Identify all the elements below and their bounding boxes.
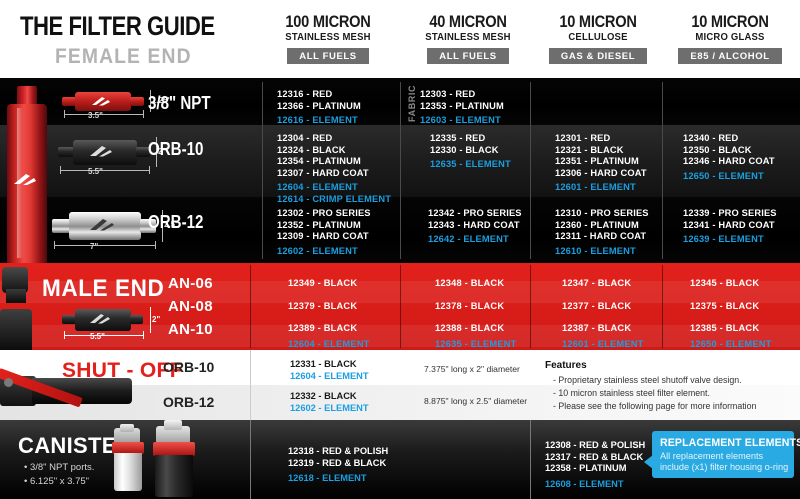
feature-item: - 10 micron stainless steel filter eleme… xyxy=(553,388,710,398)
cell-parts: 12342 - PRO SERIES 12343 - HARD COAT xyxy=(428,208,522,230)
cell-an06-10micron-cellulose: 12347 - BLACK xyxy=(562,278,631,288)
column-header-10-micron-cellulose: 10 MICRON CELLULOSE GAS & DIESEL xyxy=(528,12,668,74)
canister-product-image xyxy=(110,424,215,498)
row-label-shutoff-orb12: ORB-12 xyxy=(163,394,214,410)
feature-item: - Please see the following page for more… xyxy=(553,401,756,411)
row-label-orb10: ORB-10 xyxy=(148,139,203,160)
page-title: THE FILTER GUIDE xyxy=(20,11,215,42)
shutoff-dims-orb10: 7.375" long x 2" diameter xyxy=(424,364,520,374)
male-end-section: MALE END 5.5" 2" AN-06 AN-08 AN-10 12349… xyxy=(0,263,800,350)
replacement-elements-callout: REPLACEMENT ELEMENTS All replacement ele… xyxy=(652,431,794,478)
column-subtitle: MICRO GLASS xyxy=(664,31,797,45)
cell-orb10-100micron: 12304 - RED 12324 - BLACK 12354 - PLATIN… xyxy=(277,133,391,206)
shutoff-dims-orb12: 8.875" long x 2.5" diameter xyxy=(424,396,527,406)
page-header: THE FILTER GUIDE FEMALE END 100 MICRON S… xyxy=(0,0,800,78)
cell-canister-100micron: 12318 - RED & POLISH 12319 - RED & BLACK… xyxy=(288,446,388,485)
cell-orb10-40micron: 12335 - RED 12330 - BLACK 12635 - ELEMEN… xyxy=(430,133,511,171)
column-subtitle: STAINLESS MESH xyxy=(402,31,535,45)
cell-part: 12331 - BLACK xyxy=(290,359,369,371)
cell-element: 12635 - ELEMENT xyxy=(430,159,511,169)
cell-orb10-10micron-cellulose: 12301 - RED 12321 - BLACK 12351 - PLATIN… xyxy=(555,133,647,194)
column-header-10-micron-micro-glass: 10 MICRON MICRO GLASS E85 / ALCOHOL xyxy=(660,12,800,74)
filter-guide-sheet: THE FILTER GUIDE FEMALE END 100 MICRON S… xyxy=(0,0,800,499)
column-divider xyxy=(250,420,251,499)
shut-off-section: SHUT - OFF ORB-10 ORB-12 12331 - BLACK 1… xyxy=(0,350,800,420)
canister-bullet: • 3/8" NPT ports. xyxy=(24,462,94,473)
column-badge: GAS & DIESEL xyxy=(549,48,647,64)
cell-an10-100micron: 12389 - BLACK xyxy=(288,323,357,333)
column-header-100-micron: 100 MICRON STAINLESS MESH ALL FUELS xyxy=(258,12,398,74)
cell-parts: 12301 - RED 12321 - BLACK 12351 - PLATIN… xyxy=(555,133,647,178)
cell-element-100micron: 12604 - ELEMENT xyxy=(288,339,370,349)
dim-diameter: 2" xyxy=(152,315,160,324)
product-bottle-image xyxy=(5,86,47,263)
brand-logo-icon xyxy=(90,314,110,324)
cell-an10-40micron: 12388 - BLACK xyxy=(435,323,504,333)
cell-an08-40micron: 12378 - BLACK xyxy=(435,301,504,311)
page-subtitle: FEMALE END xyxy=(55,45,192,69)
dim-length: 5.5" xyxy=(90,332,105,341)
cell-element: 12603 - ELEMENT xyxy=(420,115,501,125)
column-title: 100 MICRON xyxy=(268,12,388,31)
cell-an06-10micron-microglass: 12345 - BLACK xyxy=(690,278,759,288)
cell-an08-10micron-microglass: 12375 - BLACK xyxy=(690,301,759,311)
column-divider xyxy=(530,82,531,259)
male-end-title: MALE END xyxy=(42,275,164,303)
dim-length: 3.5" xyxy=(88,111,103,120)
brand-logo-icon xyxy=(90,146,112,157)
an-fitting-image xyxy=(0,263,42,350)
cell-orb10-10micron-microglass: 12340 - RED 12350 - BLACK 12346 - HARD C… xyxy=(683,133,775,182)
cell-orb12-10micron-cellulose: 12310 - PRO SERIES 12360 - PLATINUM 1231… xyxy=(555,208,649,257)
column-divider xyxy=(262,82,263,259)
cell-parts: 12339 - PRO SERIES 12341 - HARD COAT xyxy=(683,208,777,230)
brand-logo-icon xyxy=(14,174,36,186)
cell-parts: 12316 - RED 12366 - PLATINUM xyxy=(277,89,361,111)
cell-parts: 12335 - RED 12330 - BLACK xyxy=(430,133,499,155)
cell-parts: 12340 - RED 12350 - BLACK 12346 - HARD C… xyxy=(683,133,775,166)
column-divider xyxy=(662,82,663,259)
column-badge: E85 / ALCOHOL xyxy=(678,48,781,64)
row-label-orb12: ORB-12 xyxy=(148,212,203,233)
column-divider xyxy=(250,350,251,420)
row-label-npt: 3/8" NPT xyxy=(148,93,211,114)
column-divider xyxy=(530,420,531,499)
cell-parts: 12308 - RED & POLISH 12317 - RED & BLACK… xyxy=(545,440,645,473)
cell-orb12-100micron: 12302 - PRO SERIES 12352 - PLATINUM 1230… xyxy=(277,208,371,257)
cell-element: 12604 - ELEMENT xyxy=(290,371,369,383)
female-end-section: 3.5" 1.25" 3/8" NPT 12316 - RED 12366 - … xyxy=(0,78,800,263)
cell-canister-10micron-cellulose: 12308 - RED & POLISH 12317 - RED & BLACK… xyxy=(545,440,645,490)
column-divider xyxy=(400,265,401,348)
cell-shutoff-orb12: 12332 - BLACK 12602 - ELEMENT xyxy=(290,391,369,414)
row-label-an10: AN-10 xyxy=(168,321,213,338)
cell-an06-40micron: 12348 - BLACK xyxy=(435,278,504,288)
cell-element: 12610 - ELEMENT xyxy=(555,246,636,256)
cell-an08-10micron-cellulose: 12377 - BLACK xyxy=(562,301,631,311)
cell-shutoff-orb10: 12331 - BLACK 12604 - ELEMENT xyxy=(290,359,369,382)
cell-npt-40micron: 12303 - RED 12353 - PLATINUM 12603 - ELE… xyxy=(420,89,504,127)
cell-element: 12601 - ELEMENT xyxy=(555,182,636,192)
column-header-40-micron: 40 MICRON STAINLESS MESH ALL FUELS xyxy=(398,12,538,74)
cell-element: 12608 - ELEMENT xyxy=(545,479,624,489)
fabric-tag: FABRIC xyxy=(407,85,417,122)
callout-title: REPLACEMENT ELEMENTS xyxy=(660,437,800,449)
dim-length: 7" xyxy=(90,242,98,251)
cell-an10-10micron-microglass: 12385 - BLACK xyxy=(690,323,759,333)
column-title: 40 MICRON xyxy=(408,12,528,31)
column-badge: ALL FUELS xyxy=(287,48,368,64)
column-divider xyxy=(250,265,251,348)
cell-element-10micron-microglass: 12650 - ELEMENT xyxy=(690,339,772,349)
cell-parts: 12304 - RED 12324 - BLACK 12354 - PLATIN… xyxy=(277,133,369,178)
callout-body: All replacement elements include (x1) fi… xyxy=(660,451,790,473)
column-divider xyxy=(400,82,401,259)
cell-orb12-40micron: 12342 - PRO SERIES 12343 - HARD COAT 126… xyxy=(428,208,522,246)
feature-item: - Proprietary stainless steel shutoff va… xyxy=(553,375,742,385)
dim-length: 5.5" xyxy=(88,167,103,176)
row-label-shutoff-orb10: ORB-10 xyxy=(163,359,214,375)
column-subtitle: CELLULOSE xyxy=(532,31,665,45)
cell-element: 12618 - ELEMENT xyxy=(288,473,367,483)
cell-element: 12650 - ELEMENT xyxy=(683,171,764,181)
column-subtitle: STAINLESS MESH xyxy=(262,31,395,45)
column-title: 10 MICRON xyxy=(670,12,790,31)
cell-element: 12642 - ELEMENT xyxy=(428,234,509,244)
cell-parts: 12310 - PRO SERIES 12360 - PLATINUM 1231… xyxy=(555,208,649,241)
column-divider xyxy=(662,265,663,348)
brand-logo-icon xyxy=(90,219,114,231)
column-divider xyxy=(530,265,531,348)
brand-logo-icon xyxy=(92,97,110,106)
cell-parts: 12318 - RED & POLISH 12319 - RED & BLACK xyxy=(288,446,388,468)
cell-element: 12604 - ELEMENT 12614 - CRIMP ELEMENT xyxy=(277,182,391,204)
cell-npt-100micron: 12316 - RED 12366 - PLATINUM 12616 - ELE… xyxy=(277,89,361,127)
cell-element: 12602 - ELEMENT xyxy=(277,246,358,256)
cell-parts: 12303 - RED 12353 - PLATINUM xyxy=(420,89,504,111)
row-label-an06: AN-06 xyxy=(168,275,213,292)
cell-element-10micron-cellulose: 12601 - ELEMENT xyxy=(562,339,644,349)
row-label-an08: AN-08 xyxy=(168,298,213,315)
cell-an10-10micron-cellulose: 12387 - BLACK xyxy=(562,323,631,333)
bottle-cap xyxy=(17,86,37,106)
cell-an08-100micron: 12379 - BLACK xyxy=(288,301,357,311)
column-title: 10 MICRON xyxy=(538,12,658,31)
cell-orb12-10micron-microglass: 12339 - PRO SERIES 12341 - HARD COAT 126… xyxy=(683,208,777,246)
features-title: Features xyxy=(545,360,587,371)
cell-parts: 12302 - PRO SERIES 12352 - PLATINUM 1230… xyxy=(277,208,371,241)
cell-element: 12616 - ELEMENT xyxy=(277,115,358,125)
canister-bullet: • 6.125" x 3.75" xyxy=(24,476,89,487)
cell-part: 12332 - BLACK xyxy=(290,391,369,403)
column-badge: ALL FUELS xyxy=(427,48,508,64)
cell-element: 12602 - ELEMENT xyxy=(290,403,369,415)
cell-element-40micron: 12635 - ELEMENT xyxy=(435,339,517,349)
cell-element: 12639 - ELEMENT xyxy=(683,234,764,244)
cell-an06-100micron: 12349 - BLACK xyxy=(288,278,357,288)
